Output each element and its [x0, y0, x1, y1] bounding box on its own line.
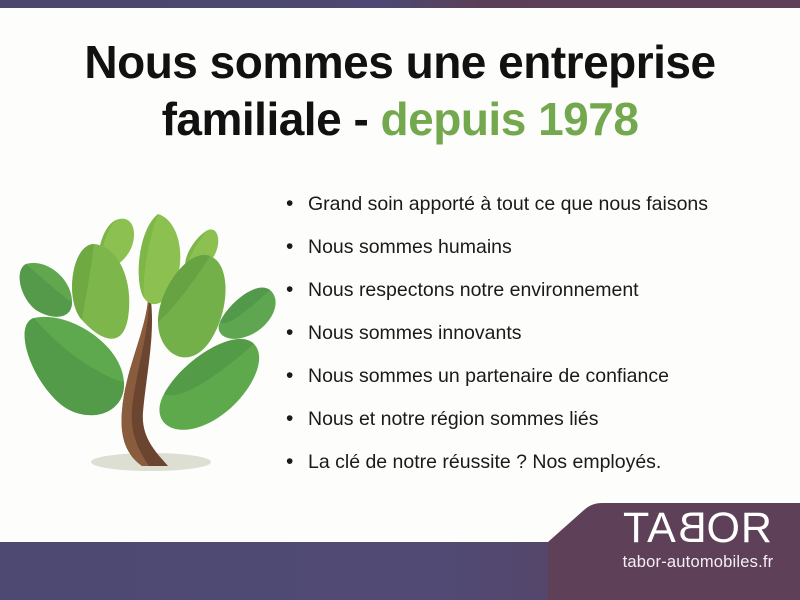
list-item: • Nous sommes humains [286, 235, 786, 278]
list-item: • La clé de notre réussite ? Nos employé… [286, 450, 786, 493]
bullet-marker-icon: • [286, 451, 308, 472]
top-accent-band [0, 0, 800, 8]
slide-canvas: Nous sommes une entreprise familiale - d… [0, 0, 800, 600]
list-item: • Nous sommes un partenaire de confiance [286, 364, 786, 407]
logo-url: tabor-automobiles.fr [600, 552, 796, 572]
bullet-marker-icon: • [286, 193, 308, 214]
bullet-marker-icon: • [286, 279, 308, 300]
bullet-text: Nous sommes humains [308, 235, 512, 259]
leaf-far-right-small [219, 288, 276, 339]
logo-wordmark-reversed-b-icon: B [677, 505, 707, 551]
brand-logo: TABOR tabor-automobiles.fr [600, 505, 796, 585]
bullet-text: La clé de notre réussite ? Nos employés. [308, 450, 661, 474]
logo-wordmark-part1: TA [623, 504, 677, 552]
list-item: • Nous et notre région sommes liés [286, 407, 786, 450]
logo-wordmark-part2: OR [706, 504, 773, 552]
bullet-marker-icon: • [286, 365, 308, 386]
bullet-list: • Grand soin apporté à tout ce que nous … [286, 192, 786, 493]
bullet-text: Nous et notre région sommes liés [308, 407, 598, 431]
list-item: • Grand soin apporté à tout ce que nous … [286, 192, 786, 235]
logo-wordmark: TABOR [600, 505, 796, 551]
bullet-text: Nous sommes innovants [308, 321, 522, 345]
bullet-marker-icon: • [286, 408, 308, 429]
bullet-text: Nous respectons notre environnement [308, 278, 639, 302]
leaf-far-left-small [20, 263, 72, 317]
bullet-text: Nous sommes un partenaire de confiance [308, 364, 669, 388]
title-line-2: familiale - depuis 1978 [0, 91, 800, 148]
list-item: • Nous respectons notre environnement [286, 278, 786, 321]
bullet-text: Grand soin apporté à tout ce que nous fa… [308, 192, 708, 216]
tree-illustration [18, 186, 284, 486]
title-line-1: Nous sommes une entreprise [0, 34, 800, 91]
title-line-2-plain: familiale - [162, 93, 381, 145]
bullet-marker-icon: • [286, 322, 308, 343]
bullet-marker-icon: • [286, 236, 308, 257]
list-item: • Nous sommes innovants [286, 321, 786, 364]
page-title: Nous sommes une entreprise familiale - d… [0, 34, 800, 148]
title-line-2-accent: depuis 1978 [381, 93, 639, 145]
